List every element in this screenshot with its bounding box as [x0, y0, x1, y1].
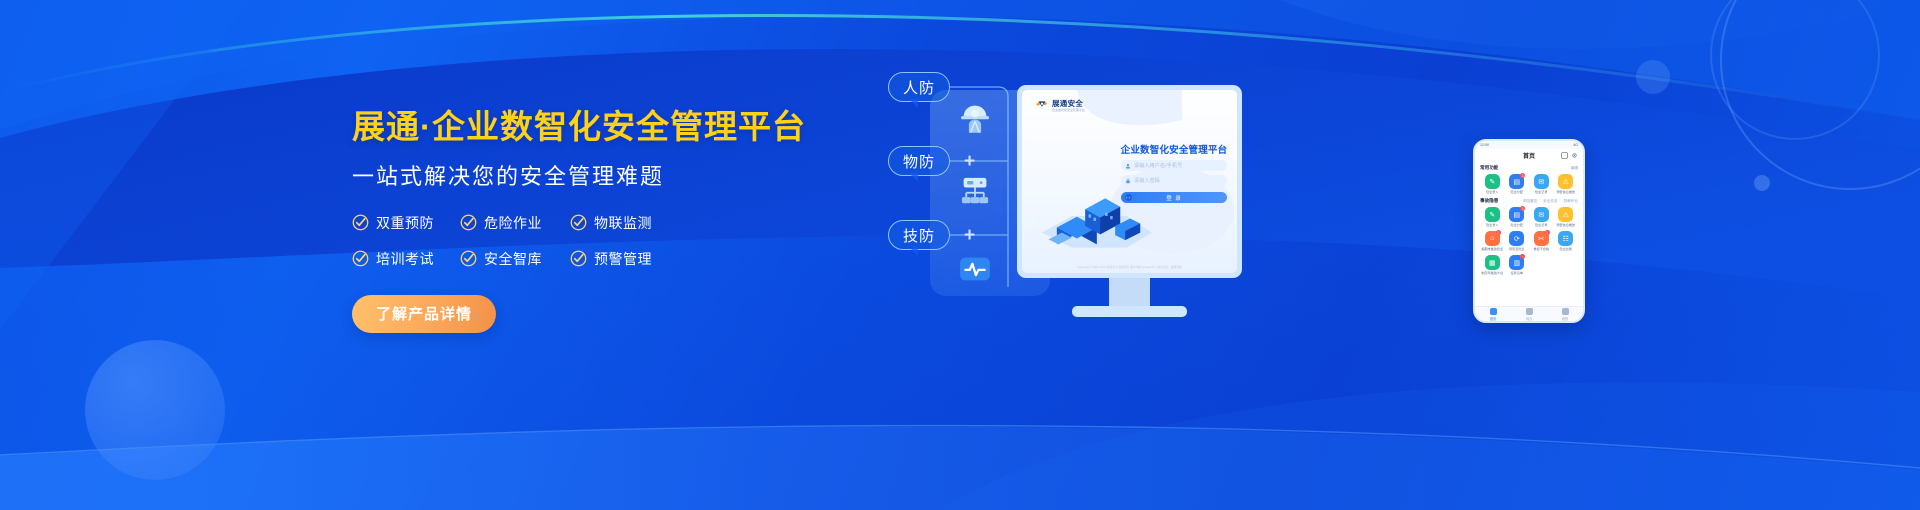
tab-item[interactable]: 风险管控 [1523, 199, 1537, 204]
app-icon: ⟳ [1509, 231, 1524, 246]
check-circle-icon [352, 214, 369, 231]
app-label: 隐患记录 [1530, 224, 1552, 228]
feature-label: 培训考试 [376, 249, 434, 269]
badge-count: 2 [1496, 230, 1501, 235]
monitor-screen: 展通安全 企业数智化安全管理平台 企业数智化安全管理平台 请输入用户名/手机号 … [1022, 90, 1237, 273]
app-icon: ▦ [1485, 255, 1500, 270]
list-item[interactable]: 3▤隐患分配 [1505, 174, 1530, 194]
list-item[interactable]: ✎隐患录入 [1480, 174, 1505, 194]
app-icon: ✎ [1485, 207, 1500, 222]
list-item[interactable]: ✉隐患记录 [1529, 207, 1554, 227]
list-item: 培训考试 [352, 249, 460, 269]
section-edit-link[interactable]: 编辑 [1571, 166, 1578, 171]
scan-icon[interactable] [1561, 152, 1568, 159]
tab-item[interactable]: 特种作业 [1564, 199, 1578, 204]
tab-label: 我的 [1562, 316, 1568, 321]
app-label: 重复不合格 [1530, 248, 1552, 252]
app-icon: ✎ [1485, 174, 1500, 189]
profile-icon [1562, 308, 1569, 315]
section-title: 常用功能 [1480, 165, 1498, 171]
plus-operator-2: + [964, 226, 975, 245]
login-heading: 企业数智化安全管理平台 [1119, 142, 1229, 156]
check-circle-icon [460, 250, 477, 267]
status-signal: 4G [1573, 143, 1578, 147]
decorative-circle-left [85, 340, 225, 480]
monitor-neck [1109, 278, 1150, 306]
list-item: 预警管理 [570, 249, 680, 269]
list-item: 安全智库 [460, 249, 570, 269]
plus-operator-1: + [964, 152, 975, 171]
app-label: 隐患记录 [1530, 191, 1552, 195]
badge-label: 技防 [903, 225, 935, 246]
list-item[interactable]: ✎隐患录入 [1480, 207, 1505, 227]
badge-count: − [1520, 254, 1525, 259]
list-item[interactable]: 3▤隐患分配 [1505, 207, 1530, 227]
tab-label: 待办 [1526, 316, 1532, 321]
list-item[interactable]: ⟳待复查隐患 [1505, 231, 1530, 251]
tab-profile[interactable]: 我的 [1547, 307, 1583, 321]
common-function-grid: ✎隐患录入 3▤隐患分配 ✉隐患记录 ⚠预警信息推送 [1480, 174, 1578, 194]
section-title: 事故隐患 [1480, 198, 1498, 204]
user-icon [1125, 163, 1131, 169]
screen-footer-text: Copyright © 2014-2023 展通安全 版权所有 浙ICP备xxx… [1022, 265, 1237, 269]
badge-label: 物防 [903, 151, 935, 172]
hero-copy: 展通·企业数智化安全管理平台 一站式解决您的安全管理难题 双重预防 危险作业 物… [352, 108, 812, 333]
section-tabs: 风险管控 安全总览 特种作业 [1523, 199, 1578, 204]
app-label: 制定年整改计划 [1481, 272, 1503, 276]
phone-section-common: 常用功能 编辑 ✎隐患录入 3▤隐患分配 ✉隐患记录 ⚠预警信息推送 [1475, 161, 1583, 194]
tab-item[interactable]: 安全总览 [1543, 199, 1557, 204]
feature-label: 安全智库 [484, 249, 542, 269]
app-icon: ☷ [1558, 231, 1573, 246]
app-label: 预警信息推送 [1555, 224, 1577, 228]
learn-more-button[interactable]: 了解产品详情 [352, 295, 496, 333]
app-icon: ✉ [1534, 207, 1549, 222]
feature-label: 危险作业 [484, 213, 542, 233]
page-title: 展通·企业数智化安全管理平台 [352, 108, 812, 147]
list-item[interactable]: ✉隐患记录 [1529, 174, 1554, 194]
list-item[interactable]: ▦制定年整改计划 [1480, 255, 1505, 275]
status-time: 12:50 [1480, 143, 1489, 147]
desktop-monitor-mockup: 展通安全 企业数智化安全管理平台 企业数智化安全管理平台 请输入用户名/手机号 … [1017, 85, 1242, 335]
logo-text: 展通安全 [1052, 100, 1085, 108]
check-circle-icon [352, 250, 369, 267]
list-item[interactable]: ⚠预警信息推送 [1554, 207, 1579, 227]
phone-status-bar: 12:50 4G [1475, 141, 1583, 149]
badge-count: 3 [1520, 173, 1525, 178]
list-item: 物联监测 [570, 213, 680, 233]
username-field[interactable]: 请输入用户名/手机号 [1121, 160, 1227, 171]
feature-label: 物联监测 [594, 213, 652, 233]
feature-label: 双重预防 [376, 213, 434, 233]
phone-nav-bar: 首页 [1475, 149, 1583, 161]
app-label: 待复查隐患 [1506, 248, 1528, 252]
tab-label: 首页 [1490, 316, 1496, 321]
list-item[interactable]: 2⌂超期未整改隐患 [1480, 231, 1505, 251]
feature-list: 双重预防 危险作业 物联监测 培训考试 安全智库 预警管理 [352, 213, 812, 269]
badge-count: 1 [1545, 230, 1550, 235]
list-item[interactable]: ⚠预警信息推送 [1554, 174, 1579, 194]
decorative-dot-a [1636, 60, 1670, 94]
waveform-monitor-icon [954, 248, 996, 290]
phone-tab-bar: 首页 待办 我的 [1475, 306, 1583, 321]
app-label: 超期未整改隐患 [1481, 248, 1503, 252]
app-label: 隐患录入 [1481, 224, 1503, 228]
tab-todo[interactable]: 待办 [1511, 307, 1547, 321]
badge-renfang[interactable]: 人防 [888, 72, 950, 102]
nav-title: 首页 [1523, 151, 1535, 160]
todo-icon [1526, 308, 1533, 315]
tab-home[interactable]: 首页 [1475, 307, 1511, 321]
monitor-base [1072, 306, 1187, 317]
badge-jifang[interactable]: 技防 [888, 220, 950, 250]
app-icon: ⚠ [1558, 207, 1573, 222]
app-label: 预警信息推送 [1555, 191, 1577, 195]
hero-banner: 展通·企业数智化安全管理平台 一站式解决您的安全管理难题 双重预防 危险作业 物… [0, 0, 1920, 510]
badge-label: 人防 [903, 77, 935, 98]
app-label: 隐患录入 [1481, 191, 1503, 195]
app-label: 任务清单 [1506, 272, 1528, 276]
brand-logo: 展通安全 企业数智化安全管理平台 [1035, 99, 1085, 112]
feature-label: 预警管理 [594, 249, 652, 269]
hazard-function-grid: ✎隐患录入 3▤隐患分配 ✉隐患记录 ⚠预警信息推送 2⌂超期未整改隐患 ⟳待复… [1480, 207, 1578, 275]
app-label: 隐患台账 [1555, 248, 1577, 252]
badge-wufang[interactable]: 物防 [888, 146, 950, 176]
list-item[interactable]: −▥任务清单 [1505, 255, 1530, 275]
mobile-phone-mockup: 12:50 4G 首页 常用功能 编辑 ✎隐患录入 3▤隐患分配 ✉隐患记录 ⚠… [1473, 139, 1585, 323]
list-item: 双重预防 [352, 213, 460, 233]
logo-subtext: 企业数智化安全管理平台 [1052, 109, 1085, 112]
badge-count: 3 [1520, 206, 1525, 211]
check-circle-icon [570, 250, 587, 267]
username-placeholder: 请输入用户名/手机号 [1134, 162, 1182, 169]
decorative-dot-b [1754, 175, 1770, 191]
gear-icon[interactable] [1571, 152, 1578, 159]
page-subtitle: 一站式解决您的安全管理难题 [352, 159, 812, 191]
list-item[interactable]: 1✂重复不合格 [1529, 231, 1554, 251]
app-icon: ✉ [1534, 174, 1549, 189]
list-item: 危险作业 [460, 213, 570, 233]
app-label: 隐患分配 [1506, 191, 1528, 195]
network-device-icon [954, 170, 996, 212]
app-label: 隐患分配 [1506, 224, 1528, 228]
home-icon [1490, 308, 1497, 315]
list-item[interactable]: ☷隐患台账 [1554, 231, 1579, 251]
check-circle-icon [460, 214, 477, 231]
phone-section-hazard: 事故隐患 风险管控 安全总览 特种作业 ✎隐患录入 3▤隐患分配 ✉隐患记录 ⚠… [1475, 194, 1583, 275]
city-illustration [1032, 181, 1160, 251]
worker-helmet-icon [954, 96, 996, 138]
check-circle-icon [570, 214, 587, 231]
app-icon: ⚠ [1558, 174, 1573, 189]
zhantong-logo-icon [1035, 99, 1049, 112]
monitor-frame: 展通安全 企业数智化安全管理平台 企业数智化安全管理平台 请输入用户名/手机号 … [1017, 85, 1242, 278]
login-button-label: 登 录 [1166, 194, 1182, 202]
